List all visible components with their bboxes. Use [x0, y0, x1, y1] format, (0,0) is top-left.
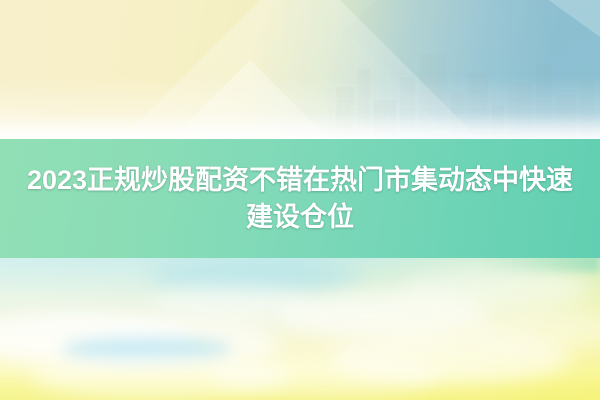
cloud-icon	[400, 268, 590, 310]
cloud-icon	[330, 332, 570, 384]
green-band-feather	[480, 258, 600, 272]
headline-band: 2023正规炒股配资不错在热门市集动态中快速建设仓位	[0, 139, 600, 258]
sky-photo-band	[0, 258, 600, 400]
top-gradient-band	[0, 0, 600, 139]
top-band-haze	[0, 113, 600, 139]
cloud-icon	[280, 292, 490, 340]
sky-blue-patch-upper	[150, 262, 360, 292]
cloud-icon	[470, 310, 600, 350]
cloud-icon	[210, 354, 440, 398]
page-title: 2023正规炒股配资不错在热门市集动态中快速建设仓位	[20, 162, 580, 236]
banner-image: 2023正规炒股配资不错在热门市集动态中快速建设仓位	[0, 0, 600, 400]
sky-blue-patch-lower	[62, 338, 232, 362]
